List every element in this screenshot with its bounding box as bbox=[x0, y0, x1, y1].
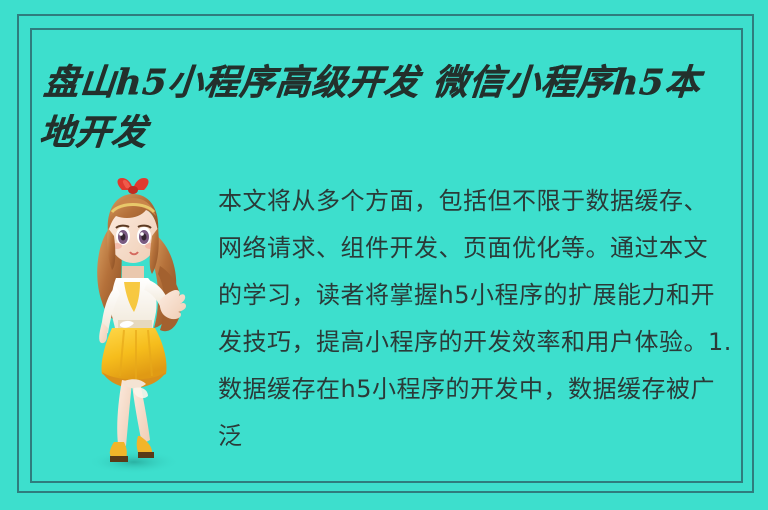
page-title: 盘山h5小程序高级开发 微信小程序h5本地开发 bbox=[37, 58, 736, 158]
article-body: 本文将从多个方面，包括但不限于数据缓存、网络请求、组件开发、页面优化等。通过本文… bbox=[218, 178, 732, 460]
poster-canvas: 盘山h5小程序高级开发 微信小程序h5本地开发 bbox=[0, 0, 768, 510]
character-illustration bbox=[60, 170, 210, 482]
